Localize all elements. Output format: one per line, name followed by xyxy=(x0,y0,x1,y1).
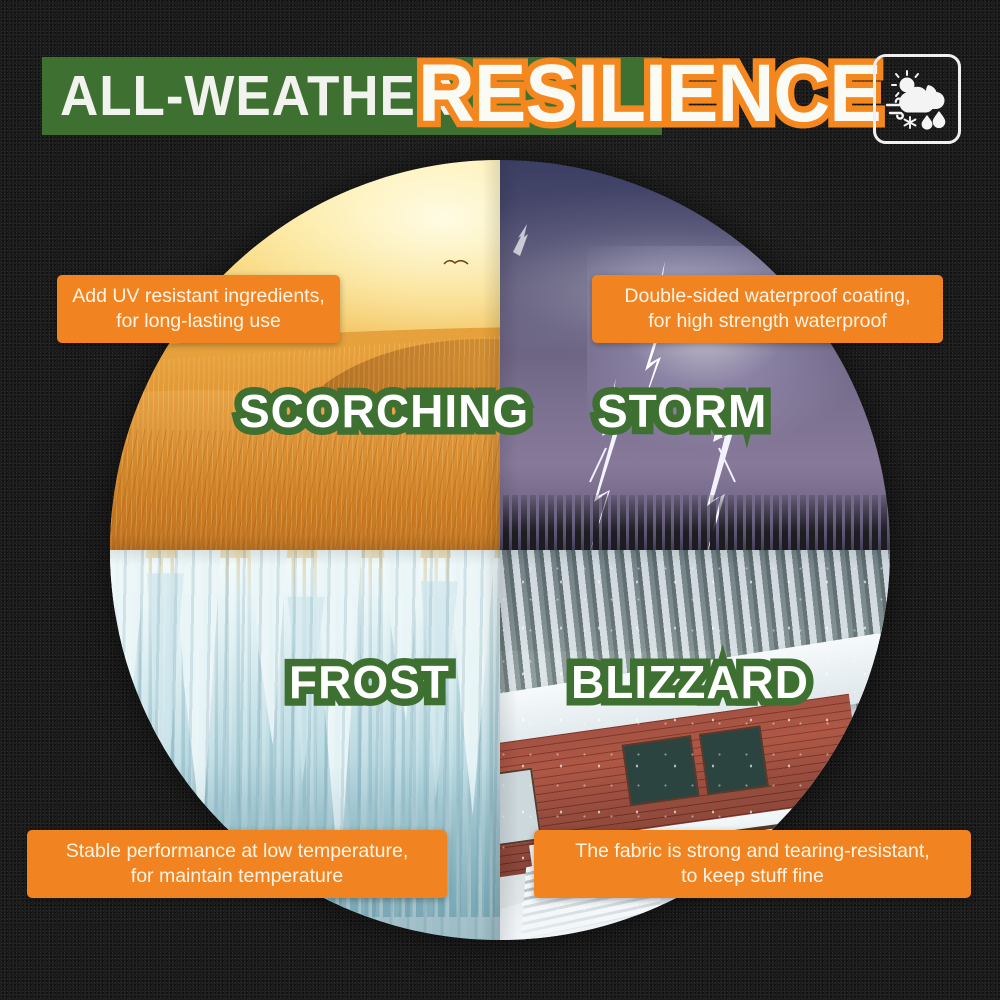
callout-tear-resistant: The fabric is strong and tearing-resista… xyxy=(534,830,971,898)
label-blizzard: BLIZZARD xyxy=(571,654,809,710)
quadrant-storm xyxy=(500,160,890,550)
callout-uv-resistant: Add UV resistant ingredients, for long-l… xyxy=(57,275,340,343)
bird-silhouette xyxy=(443,258,469,268)
title-resilience: RESILIENCE xyxy=(418,46,881,142)
callout-low-temperature: Stable performance at low temperature, f… xyxy=(27,830,447,898)
label-frost: FROST xyxy=(289,654,450,710)
label-storm: STORM xyxy=(597,383,767,439)
storm-treeline xyxy=(500,495,890,550)
all-weather-icon xyxy=(883,65,957,139)
storm-scene xyxy=(500,160,890,550)
lightning-bolt-small xyxy=(511,222,545,262)
label-scorching: SCORCHING xyxy=(239,383,529,439)
title-all-weather: ALL-WEATHER xyxy=(60,62,455,130)
desert-scene xyxy=(110,160,500,550)
quadrant-scorching xyxy=(110,160,500,550)
callout-waterproof: Double-sided waterproof coating, for hig… xyxy=(592,275,943,343)
header-banner: ALL-WEATHER RESILIENCE xyxy=(0,0,1000,160)
all-weather-icon-frame xyxy=(873,54,961,144)
sand-ripples-lower xyxy=(110,425,500,550)
